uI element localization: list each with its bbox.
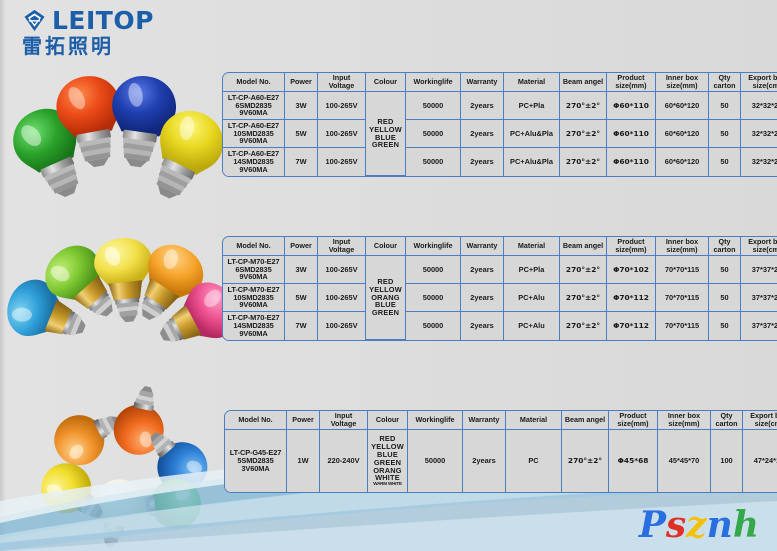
cell-input-voltage: 100-265V [318,312,366,340]
cell-beam-angel: 270°±2° [560,284,607,312]
cell-warranty: 2years [461,148,504,176]
column-header-10: Qtycarton [709,73,741,92]
column-header-5: Warranty [461,73,504,92]
column-header-4: Workinglife [406,73,461,92]
cell-workinglife: 50000 [406,120,461,148]
column-header-6: Material [504,73,560,92]
watermark-letter-n: n [707,504,733,546]
cell-workinglife: 50000 [406,148,461,176]
cell-model-no: LT-CP-A60-E276SMD28359V60MA [223,92,285,120]
table-row: LT-CP-M70-E276SMD28359V60MA3W100-265VRED… [223,256,777,284]
cell-workinglife: 50000 [408,430,463,492]
column-header-10: Qtycarton [709,237,741,256]
column-header-9: Inner boxsize(mm) [656,237,709,256]
column-header-9: Inner boxsize(mm) [656,73,709,92]
cell-input-voltage: 100-265V [318,284,366,312]
table-header-row: Model No.PowerInputVoltageColourWorkingl… [223,237,777,256]
cell-colour: REDYELLOWORANGBLUEGREEN [366,256,406,340]
table-row: LT-CP-M70-E2714SMD28359V60MA7W100-265V50… [223,312,777,340]
column-header-4: Workinglife [408,411,463,430]
cell-workinglife: 50000 [406,256,461,284]
cell-power: 3W [285,92,318,120]
column-header-8: Productsize(mm) [607,237,656,256]
column-header-1: Power [287,411,320,430]
cell-product-size: Φ60*110 [607,120,656,148]
cell-model-no: LT-CP-A60-E2714SMD28359V60MA [223,148,285,176]
cell-warranty: 2years [461,284,504,312]
table-row: LT-CP-A60-E2714SMD28359V60MA7W100-265V50… [223,148,777,176]
cell-qty-carton: 50 [709,148,741,176]
spec-table-g45: Model No.PowerInputVoltageColourWorkingl… [224,410,777,493]
column-header-1: Power [285,237,318,256]
column-header-2: InputVoltage [320,411,368,430]
cell-product-size: Φ45*68 [609,430,658,492]
cell-inner-box-size: 70*70*115 [656,284,709,312]
cell-product-size: Φ70*112 [607,284,656,312]
column-header-7: Beam angel [560,73,607,92]
table-header-row: Model No.PowerInputVoltageColourWorkingl… [225,411,777,430]
cell-inner-box-size: 60*60*120 [656,92,709,120]
column-header-4: Workinglife [406,237,461,256]
cell-beam-angel: 270°±2° [560,148,607,176]
cell-export-box-size: 32*32*26 [741,148,777,176]
cell-export-box-size: 37*37*25 [741,284,777,312]
cell-input-voltage: 100-265V [318,120,366,148]
leitop-diamond-icon [22,8,47,33]
cell-inner-box-size: 70*70*115 [656,312,709,340]
spec-table-a60: Model No.PowerInputVoltageColourWorkingl… [222,72,777,177]
brand-name: LEITOP [52,8,154,33]
watermark-letter-h: h [733,504,759,546]
cell-colour: REDYELLOWBLUEGREEN [366,92,406,176]
cell-power: 1W [287,430,320,492]
column-header-9: Inner boxsize(mm) [658,411,711,430]
watermark-letter-z: z [686,504,706,546]
spec-table-m70: Model No.PowerInputVoltageColourWorkingl… [222,236,777,341]
cell-model-no: LT-CP-M70-E276SMD28359V60MA [223,256,285,284]
cell-beam-angel: 270°±2° [562,430,609,492]
table-header-row: Model No.PowerInputVoltageColourWorkingl… [223,73,777,92]
cell-warranty: 2years [461,312,504,340]
a60-bulbs-photo [8,66,218,191]
cell-qty-carton: 50 [709,312,741,340]
column-header-3: Colour [368,411,408,430]
column-header-11: Export boxsize(cm) [741,73,777,92]
table-row: LT-CP-A60-E276SMD28359V60MA3W100-265VRED… [223,92,777,120]
brand-name-chinese: 雷拓照明 [22,35,212,57]
cell-workinglife: 50000 [406,312,461,340]
cell-export-box-size: 37*37*25 [741,312,777,340]
cell-model-no: LT-CP-M70-E2710SMD28359V60MA [223,284,285,312]
brand-logo: LEITOP 雷拓照明 [22,8,212,60]
cell-power: 5W [285,284,318,312]
table-row: LT-CP-G45-E275SMD28353V60MA1W220-240VRED… [225,430,777,492]
cell-model-no: LT-CP-A60-E2710SMD28359V60MA [223,120,285,148]
column-header-11: Export boxsize(cm) [743,411,777,430]
column-header-5: Warranty [463,411,506,430]
cell-colour: REDYELLOWBLUEGREENORANGWHITEWARM WHITE [368,430,408,492]
cell-export-box-size: 32*32*26 [741,92,777,120]
column-header-2: InputVoltage [318,237,366,256]
cell-power: 5W [285,120,318,148]
cell-workinglife: 50000 [406,284,461,312]
cell-input-voltage: 100-265V [318,92,366,120]
cell-qty-carton: 100 [711,430,743,492]
column-header-0: Model No. [223,237,285,256]
column-header-8: Productsize(mm) [607,73,656,92]
cell-input-voltage: 100-265V [318,148,366,176]
cell-beam-angel: 270°±2° [560,120,607,148]
column-header-3: Colour [366,237,406,256]
column-header-8: Productsize(mm) [609,411,658,430]
cell-product-size: Φ60*110 [607,148,656,176]
cell-material: PC [506,430,562,492]
cell-material: PC+Pla [504,92,560,120]
cell-export-box-size: 37*37*25 [741,256,777,284]
cell-product-size: Φ60*110 [607,92,656,120]
cell-power: 7W [285,148,318,176]
watermark-letter-p: P [639,504,666,546]
cell-qty-carton: 50 [709,120,741,148]
cell-product-size: Φ70*112 [607,312,656,340]
cell-beam-angel: 270°±2° [560,256,607,284]
cell-inner-box-size: 60*60*120 [656,148,709,176]
cell-material: PC+Alu&Pla [504,148,560,176]
m70-bulbs-photo [10,232,225,352]
cell-material: PC+Alu [504,312,560,340]
watermark-psznh: Psznh [639,505,759,545]
column-header-0: Model No. [223,73,285,92]
cell-warranty: 2years [461,256,504,284]
column-header-0: Model No. [225,411,287,430]
cell-power: 7W [285,312,318,340]
cell-beam-angel: 270°±2° [560,312,607,340]
cell-qty-carton: 50 [709,92,741,120]
column-header-2: InputVoltage [318,73,366,92]
cell-input-voltage: 100-265V [318,256,366,284]
cell-qty-carton: 50 [709,284,741,312]
cell-qty-carton: 50 [709,256,741,284]
cell-input-voltage: 220-240V [320,430,368,492]
cell-product-size: Φ70*102 [607,256,656,284]
cell-export-box-size: 32*32*26 [741,120,777,148]
cell-warranty: 2years [463,430,506,492]
cell-model-no: LT-CP-G45-E275SMD28353V60MA [225,430,287,492]
column-header-6: Material [506,411,562,430]
column-header-11: Export boxsize(cm) [741,237,777,256]
table-row: LT-CP-A60-E2710SMD28359V60MA5W100-265V50… [223,120,777,148]
column-header-5: Warranty [461,237,504,256]
catalog-page: LEITOP 雷拓照明 [0,0,777,551]
cell-beam-angel: 270°±2° [560,92,607,120]
cell-inner-box-size: 70*70*115 [656,256,709,284]
cell-warranty: 2years [461,92,504,120]
column-header-1: Power [285,73,318,92]
column-header-7: Beam angel [560,237,607,256]
column-header-6: Material [504,237,560,256]
column-header-10: Qtycarton [711,411,743,430]
cell-material: PC+Pla [504,256,560,284]
column-header-7: Beam angel [562,411,609,430]
cell-export-box-size: 47*24*16 [743,430,777,492]
cell-workinglife: 50000 [406,92,461,120]
column-header-3: Colour [366,73,406,92]
cell-material: PC+Alu&Pla [504,120,560,148]
table-row: LT-CP-M70-E2710SMD28359V60MA5W100-265V50… [223,284,777,312]
cell-material: PC+Alu [504,284,560,312]
cell-warranty: 2years [461,120,504,148]
cell-power: 3W [285,256,318,284]
cell-inner-box-size: 45*45*70 [658,430,711,492]
watermark-letter-s: s [666,504,686,546]
cell-model-no: LT-CP-M70-E2714SMD28359V60MA [223,312,285,340]
cell-inner-box-size: 60*60*120 [656,120,709,148]
